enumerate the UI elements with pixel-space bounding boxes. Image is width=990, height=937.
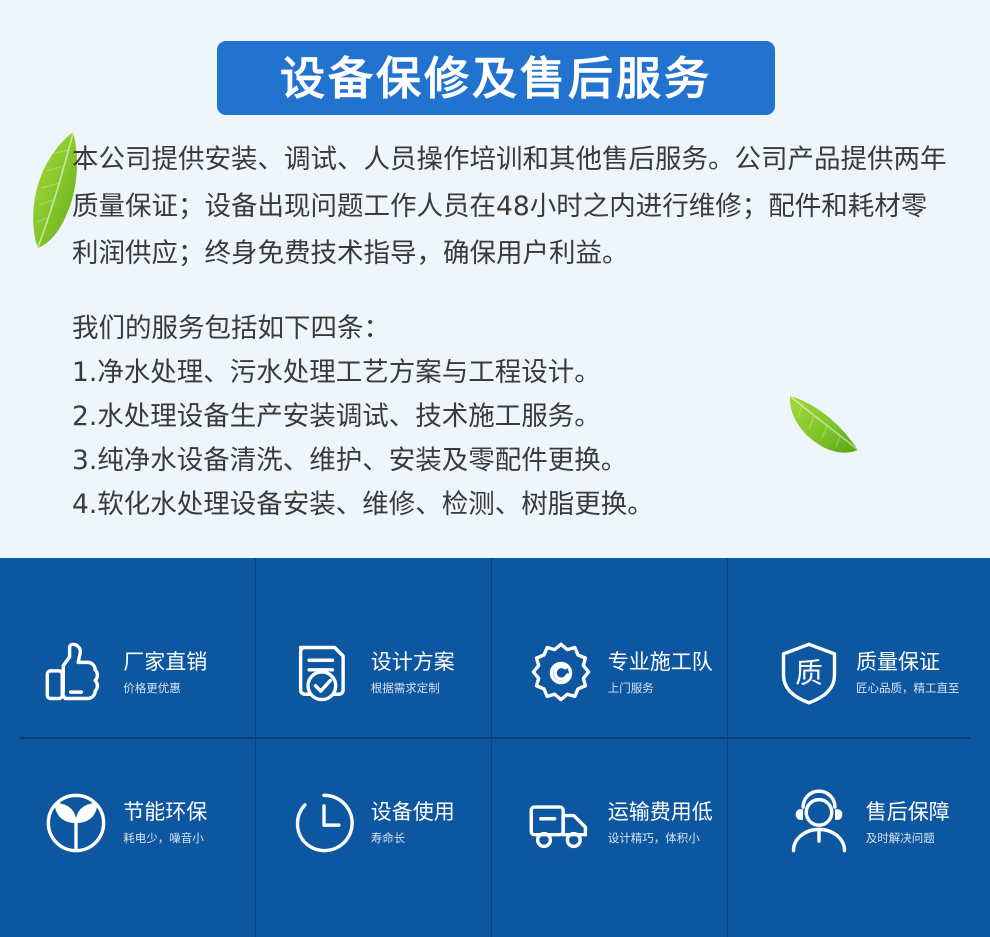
feature-title: 厂家直销: [123, 649, 207, 675]
feature-cell-energy-saving[interactable]: 节能环保 耗电少，噪音小: [0, 748, 248, 898]
feature-subtitle: 上门服务: [608, 678, 654, 698]
grid-divider-vertical: [491, 558, 492, 937]
features-panel: 厂家直销 价格更优惠 设计方案 根据需求定制: [0, 558, 990, 937]
feature-cell-after-sales[interactable]: 售后保障 及时解决问题: [743, 748, 990, 898]
feature-cell-low-shipping[interactable]: 运输费用低 设计精巧，体积小: [495, 748, 743, 898]
feature-subtitle: 及时解决问题: [866, 828, 935, 848]
feature-title: 售后保障: [866, 799, 950, 825]
feature-title: 运输费用低: [608, 799, 713, 825]
service-item-4: 4.软化水处理设备安装、维修、检测、树脂更换。: [72, 483, 852, 527]
service-item-1: 1.净水处理、污水处理工艺方案与工程设计。: [72, 351, 852, 395]
feature-title: 设计方案: [371, 649, 455, 675]
headset-support-icon: [783, 787, 855, 859]
clock-icon: [288, 787, 360, 859]
feature-cell-equipment-lifespan[interactable]: 设备使用 寿命长: [248, 748, 496, 898]
grid-divider-vertical: [255, 558, 256, 937]
feature-cell-manufacturer-direct[interactable]: 厂家直销 价格更优惠: [0, 598, 248, 748]
intro-paragraph: 本公司提供安装、调试、人员操作培训和其他售后服务。公司产品提供两年质量保证；设备…: [72, 136, 952, 277]
grid-divider-vertical: [727, 558, 728, 937]
feature-subtitle: 寿命长: [371, 828, 406, 848]
feature-title: 节能环保: [123, 799, 207, 825]
feature-cell-quality-guarantee[interactable]: 质 质量保证 匠心品质，精工直至: [743, 598, 990, 748]
service-item-2: 2.水处理设备生产安装调试、技术施工服务。: [72, 395, 852, 439]
services-heading: 我们的服务包括如下四条：: [72, 307, 852, 351]
feature-cell-professional-team[interactable]: 专业施工队 上门服务: [495, 598, 743, 748]
truck-icon: [525, 787, 597, 859]
feature-title: 质量保证: [856, 649, 940, 675]
intro-section: 设备保修及售后服务 本公司提供安装、调试、人员操作培训和其他售后服务。公司产品提…: [0, 0, 990, 558]
shield-quality-icon: 质: [773, 637, 845, 709]
eco-leaf-circle-icon: [40, 787, 112, 859]
feature-title: 专业施工队: [608, 649, 713, 675]
section-title-banner: 设备保修及售后服务: [217, 41, 775, 115]
features-grid: 厂家直销 价格更优惠 设计方案 根据需求定制: [0, 598, 990, 898]
grid-divider-horizontal: [20, 737, 970, 739]
feature-subtitle: 根据需求定制: [371, 678, 440, 698]
page-title: 设备保修及售后服务: [280, 56, 712, 101]
feature-cell-design-plan[interactable]: 设计方案 根据需求定制: [248, 598, 496, 748]
feature-subtitle: 设计精巧，体积小: [608, 828, 700, 848]
feature-title: 设备使用: [371, 799, 455, 825]
document-check-icon: [288, 637, 360, 709]
services-list: 我们的服务包括如下四条： 1.净水处理、污水处理工艺方案与工程设计。 2.水处理…: [72, 307, 852, 527]
feature-subtitle: 耗电少，噪音小: [123, 828, 204, 848]
thumbs-up-icon: [40, 637, 112, 709]
feature-subtitle: 价格更优惠: [123, 678, 181, 698]
feature-subtitle: 匠心品质，精工直至: [856, 678, 960, 698]
service-item-3: 3.纯净水设备清洗、维护、安装及零配件更换。: [72, 439, 852, 483]
svg-text:质: 质: [795, 657, 823, 690]
gear-icon: [525, 637, 597, 709]
